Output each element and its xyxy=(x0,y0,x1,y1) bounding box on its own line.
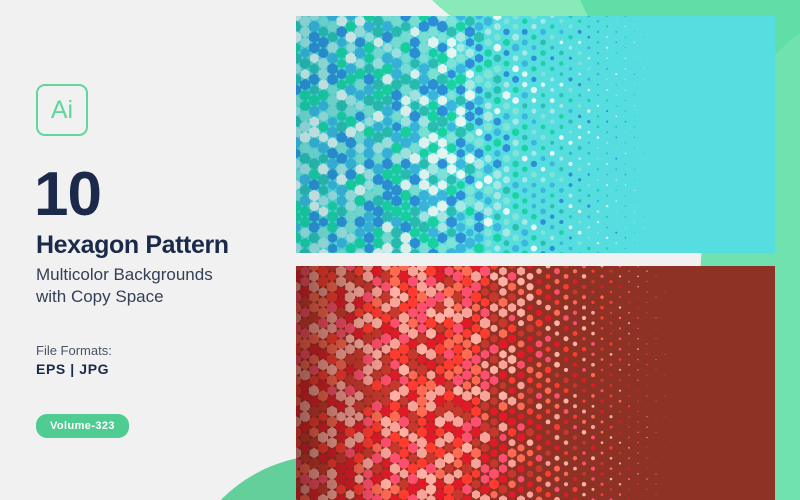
page-title: Hexagon Pattern xyxy=(36,232,229,260)
volume-badge: Volume-323 xyxy=(36,414,129,438)
red-hexagon-preview xyxy=(296,266,775,500)
adobe-illustrator-icon: Ai xyxy=(36,84,88,136)
file-formats-value: EPS | JPG xyxy=(36,361,109,377)
page-subtitle: Multicolor Backgroundswith Copy Space xyxy=(36,264,276,309)
cyan-hexagon-pattern xyxy=(296,16,775,253)
info-panel: Ai 10 Hexagon Pattern Multicolor Backgro… xyxy=(34,0,284,500)
cyan-hexagon-svg xyxy=(296,16,775,253)
cyan-hexagon-preview xyxy=(296,16,775,253)
poster-canvas: Ai 10 Hexagon Pattern Multicolor Backgro… xyxy=(0,0,800,500)
ai-badge-label: Ai xyxy=(51,98,73,123)
pack-count: 10 xyxy=(34,164,101,226)
red-hexagon-svg xyxy=(296,266,775,500)
file-formats-label: File Formats: xyxy=(36,343,112,358)
red-hexagon-pattern xyxy=(296,266,775,500)
